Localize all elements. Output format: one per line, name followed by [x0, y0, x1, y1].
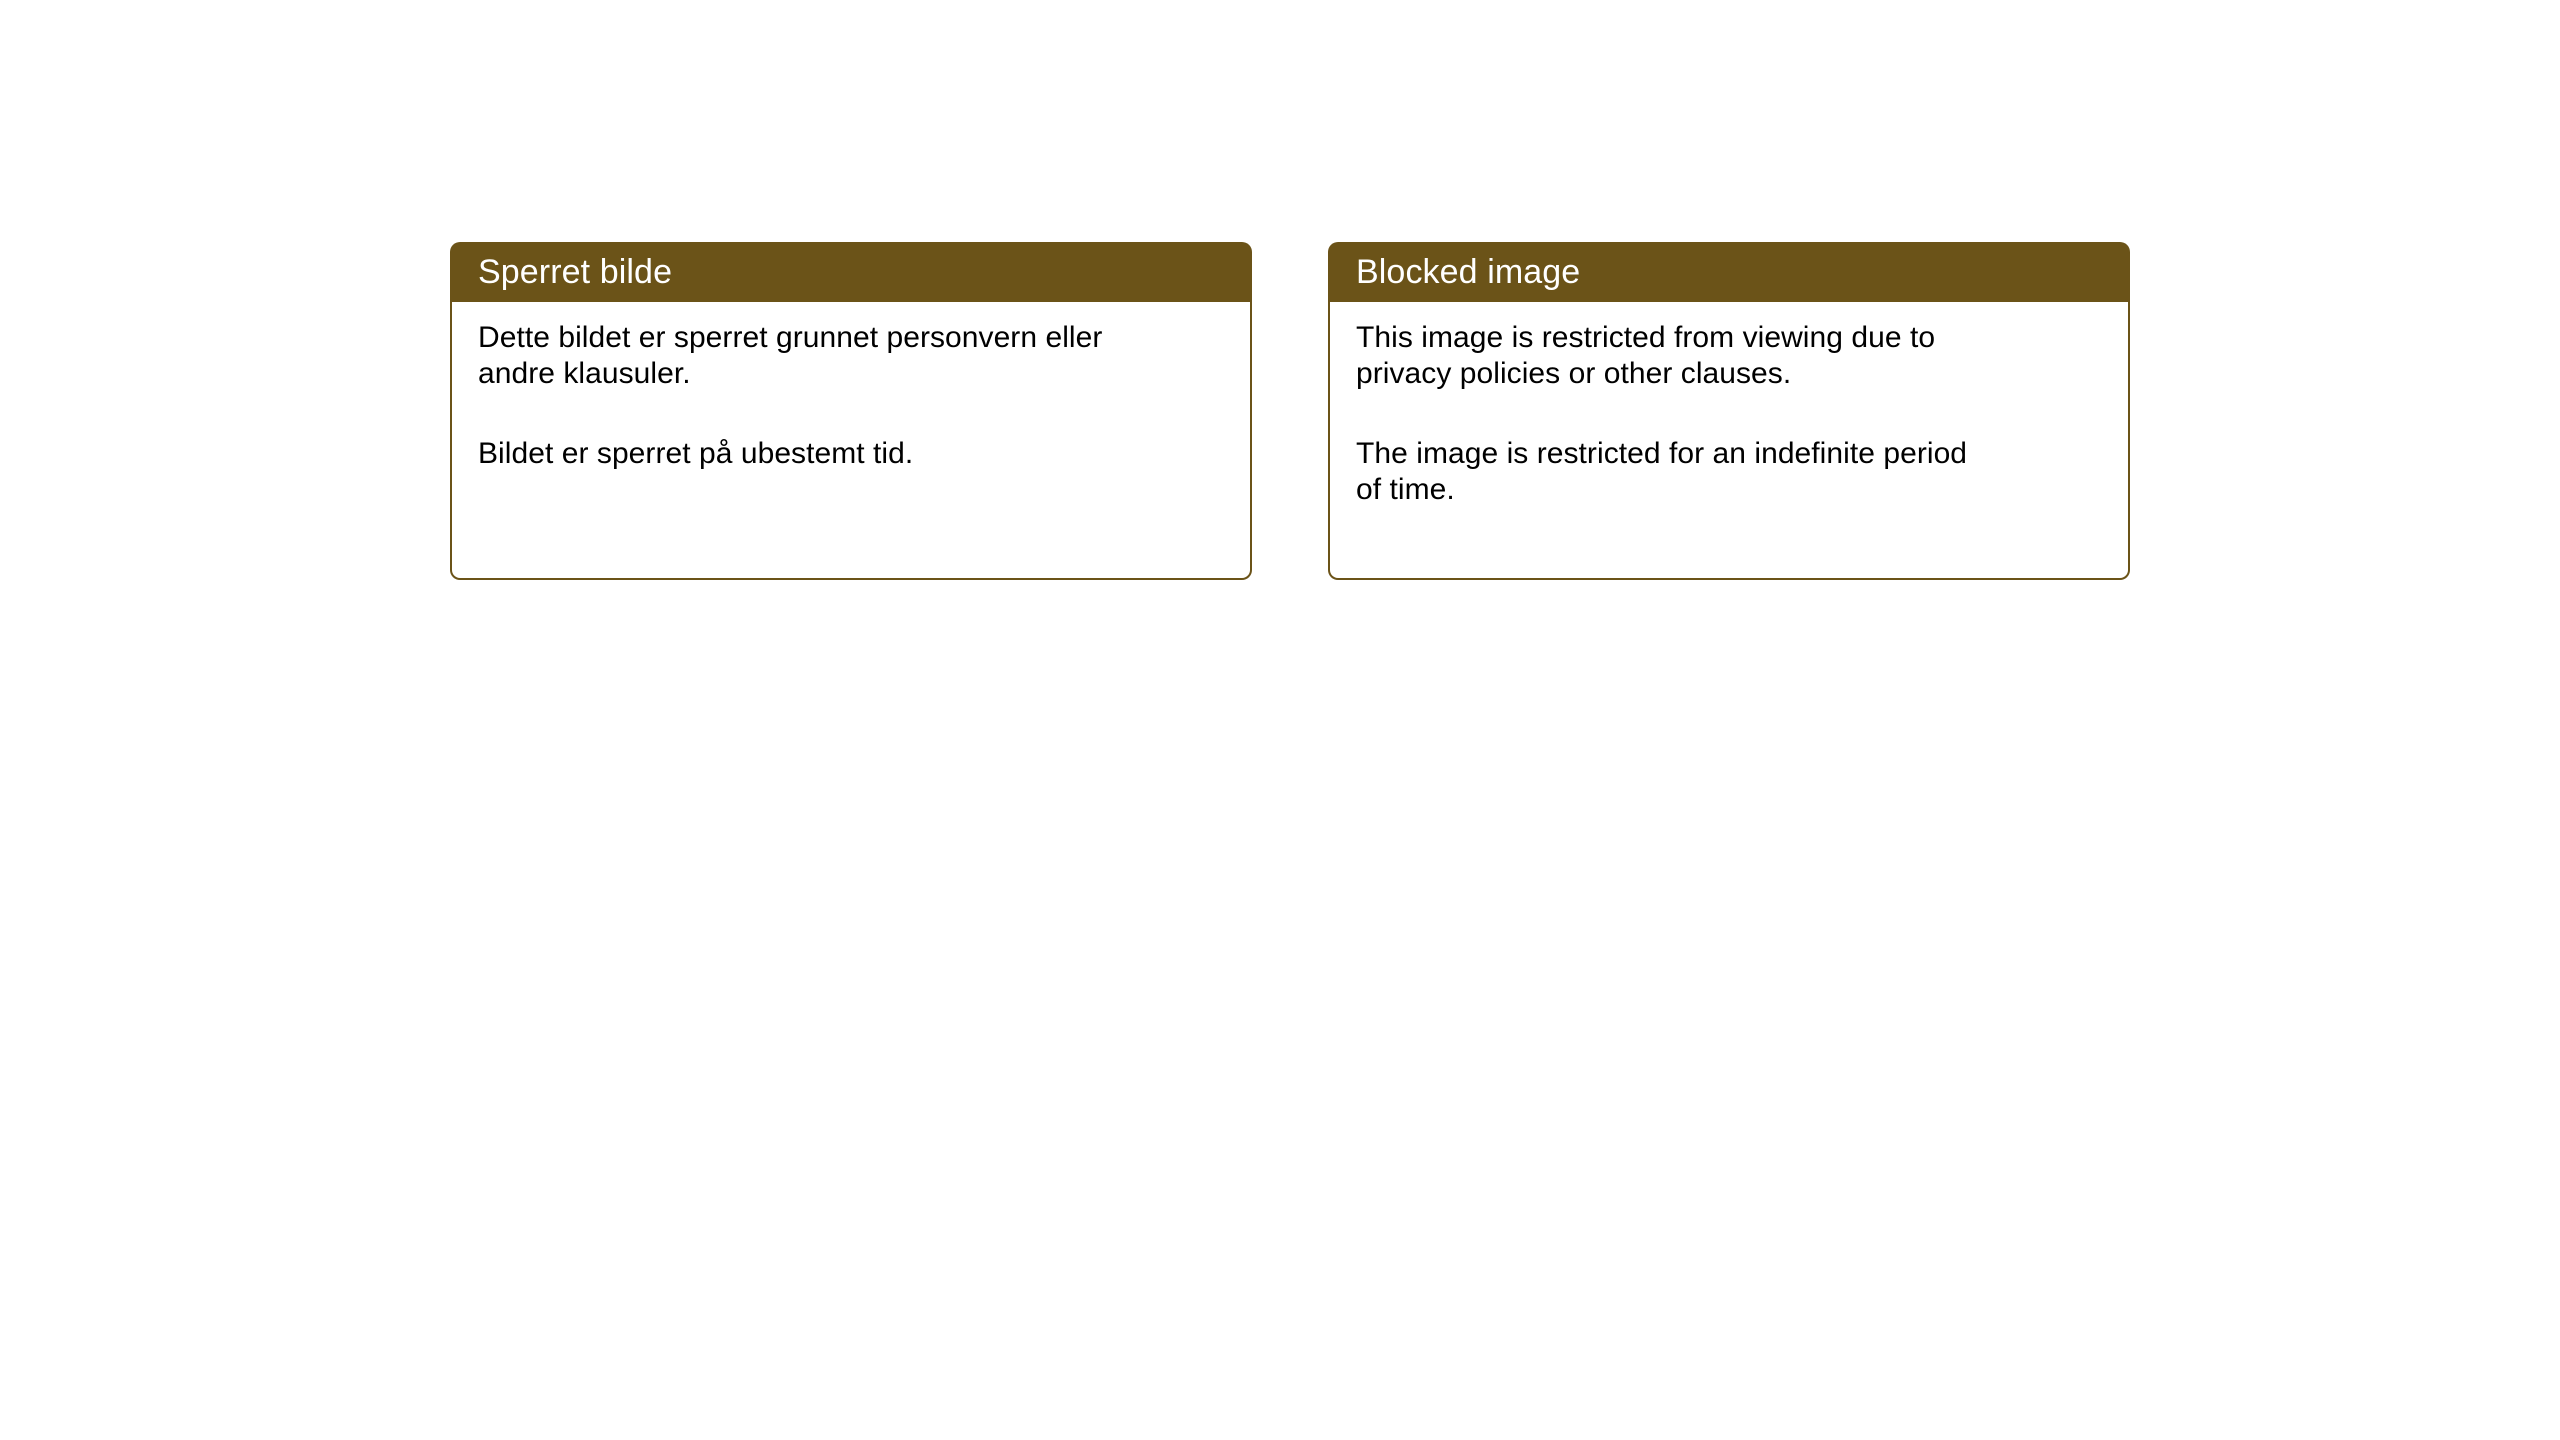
notice-paragraph: Bildet er sperret på ubestemt tid.	[478, 436, 1103, 472]
notice-paragraph: This image is restricted from viewing du…	[1356, 320, 1981, 392]
blocked-image-notice-english: Blocked image This image is restricted f…	[1328, 242, 2130, 580]
notice-paragraph: Dette bildet er sperret grunnet personve…	[478, 320, 1103, 392]
panel-title-norwegian: Sperret bilde	[478, 252, 672, 292]
blocked-image-notice-norwegian: Sperret bilde Dette bildet er sperret gr…	[450, 242, 1252, 580]
panel-body-english: This image is restricted from viewing du…	[1328, 302, 2130, 580]
notice-paragraph: The image is restricted for an indefinit…	[1356, 436, 1981, 508]
panel-body-norwegian: Dette bildet er sperret grunnet personve…	[450, 302, 1252, 580]
panel-header-english: Blocked image	[1328, 242, 2130, 302]
panel-title-english: Blocked image	[1356, 252, 1580, 292]
page-canvas: Sperret bilde Dette bildet er sperret gr…	[0, 0, 2560, 1440]
panel-header-norwegian: Sperret bilde	[450, 242, 1252, 302]
